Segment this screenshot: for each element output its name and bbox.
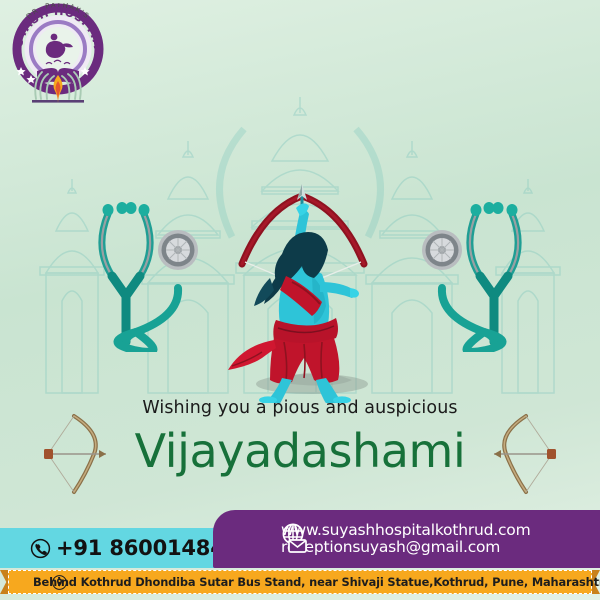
stethoscope-right-icon [392,192,542,352]
web-email-panel[interactable]: www.suyashhospitalkothrud.com receptions… [213,510,600,568]
location-pin-icon [52,575,67,590]
lord-rama-archer-illustration [212,178,392,403]
hospital-logo: DR. PATHAK'S SUYASH HOSPITAL [6,3,110,115]
address-bar: Behind Kothrud Dhondiba Sutar Bus Stand,… [8,570,592,594]
address-text: Behind Kothrud Dhondiba Sutar Bus Stand,… [33,575,600,589]
greeting-poster: DR. PATHAK'S SUYASH HOSPITAL [0,0,600,600]
email-address[interactable]: receptionsuyash@gmail.com [281,539,531,556]
greeting-block: Wishing you a pious and auspicious Vijay… [0,398,600,478]
envelope-icon [289,540,306,552]
greeting-subtitle: Wishing you a pious and auspicious [0,398,600,418]
phone-icon [30,538,51,559]
stethoscope-left-icon [78,192,228,352]
greeting-title: Vijayadashami [0,424,600,478]
globe-and-envelope-icons [278,521,314,557]
website-url[interactable]: www.suyashhospitalkothrud.com [281,522,531,539]
